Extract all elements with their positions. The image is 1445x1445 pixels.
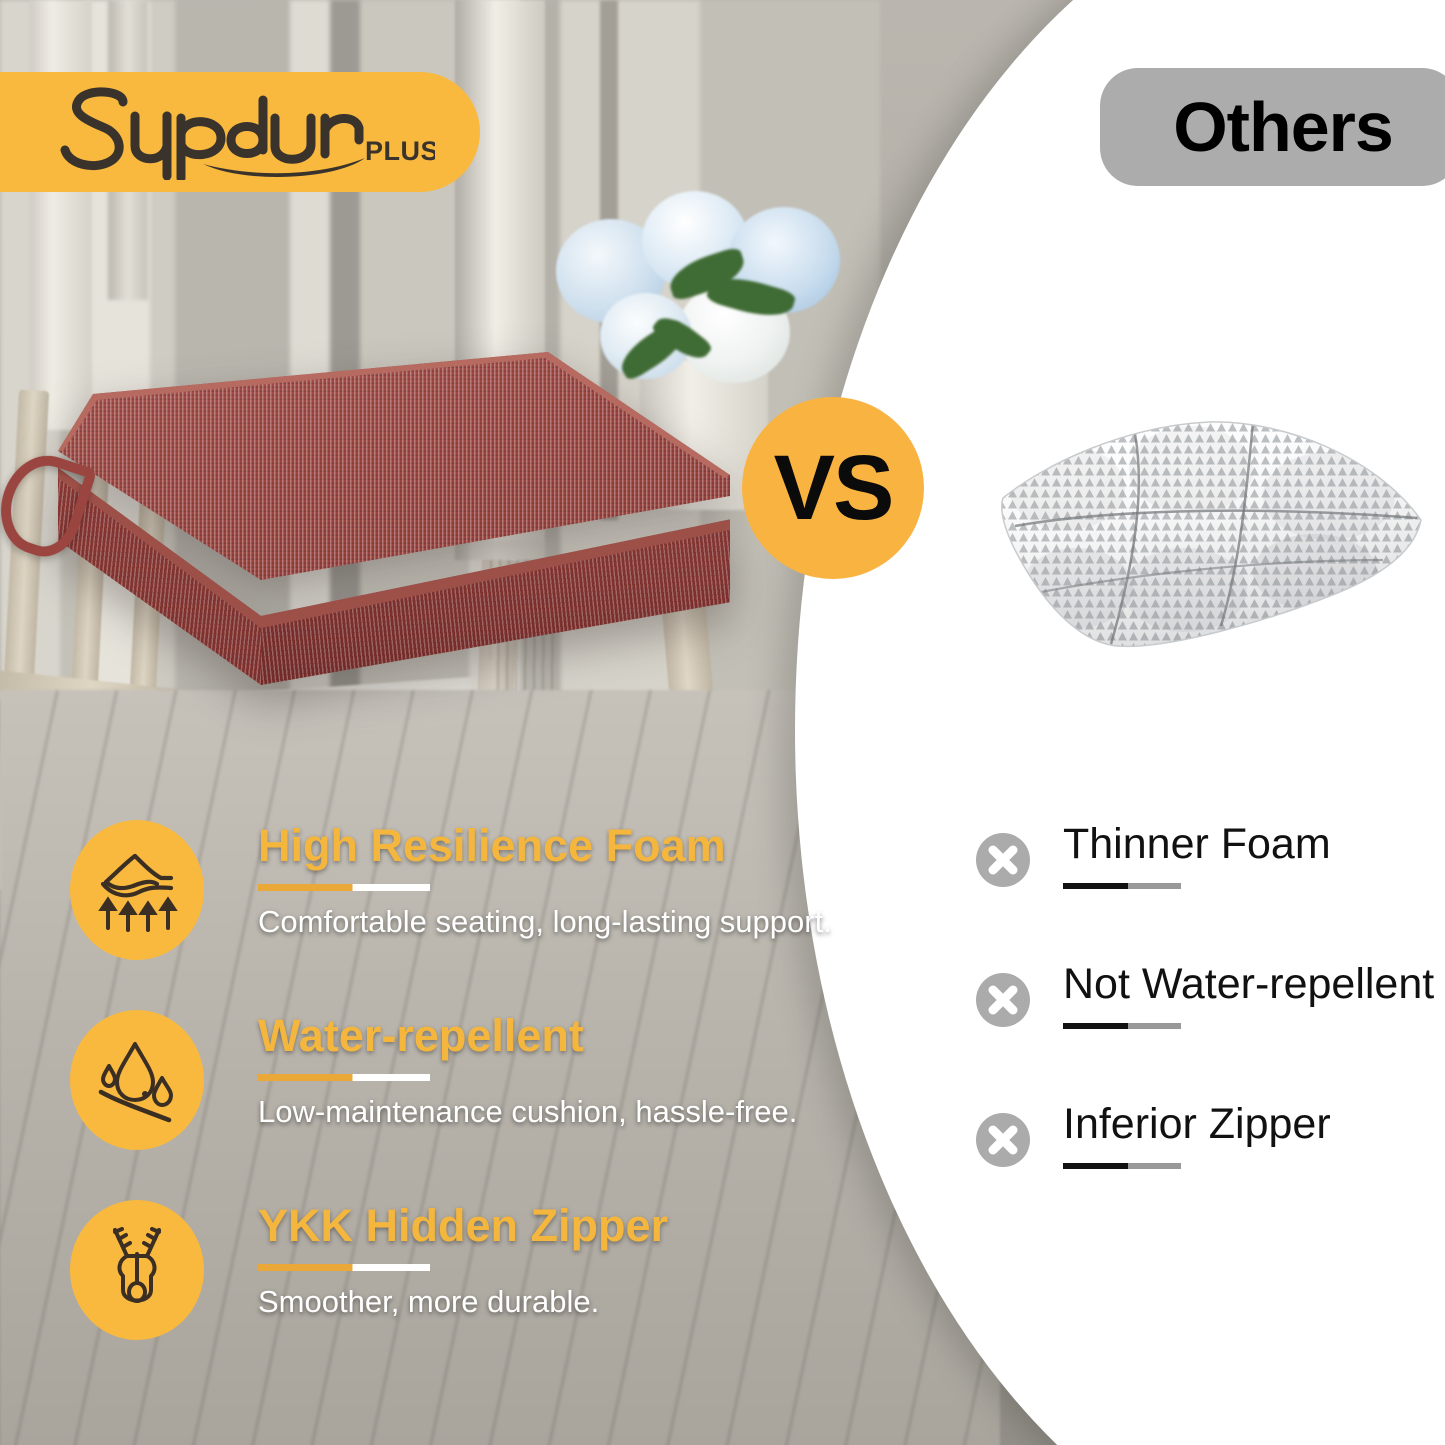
con-text: Inferior Zipper: [1063, 1102, 1443, 1169]
versus-label: VS: [774, 442, 893, 534]
feature-divider: [258, 1264, 430, 1271]
hand-support-arrows-icon: [70, 820, 204, 960]
brand-logo-pill: PLUS: [0, 72, 480, 192]
con-title: Thinner Foam: [1063, 822, 1443, 867]
competitor-cushion-graphic: [985, 400, 1435, 665]
product-cushion-image: [30, 340, 730, 685]
con-item: Thinner Foam: [975, 822, 1445, 962]
competitor-con-list: Thinner Foam Not Water-repellent: [975, 822, 1445, 1242]
versus-badge: VS: [742, 397, 924, 579]
zipper-icon: [70, 1200, 204, 1340]
brand-logo-icon: PLUS: [35, 84, 435, 180]
feature-description: Smoother, more durable.: [258, 1284, 768, 1320]
feature-item: YKK Hidden Zipper Smoother, more durable…: [70, 1192, 770, 1382]
con-divider: [1063, 1023, 1181, 1029]
competitor-label-text: Others: [1173, 92, 1393, 162]
feature-description: Comfortable seating, long-lasting suppor…: [258, 904, 768, 940]
con-text: Thinner Foam: [1063, 822, 1443, 889]
feature-item: High Resilience Foam Comfortable seating…: [70, 812, 770, 1002]
product-feature-list: High Resilience Foam Comfortable seating…: [70, 812, 770, 1382]
feature-title: YKK Hidden Zipper: [258, 1202, 768, 1249]
feature-item: Water-repellent Low-maintenance cushion,…: [70, 1002, 770, 1192]
x-circle-icon: [975, 832, 1031, 888]
feature-text: Water-repellent Low-maintenance cushion,…: [258, 1012, 768, 1130]
feature-description: Low-maintenance cushion, hassle-free.: [258, 1094, 768, 1130]
feature-divider: [258, 884, 430, 891]
x-circle-icon: [975, 1112, 1031, 1168]
water-droplet-repel-icon: [70, 1010, 204, 1150]
feature-text: High Resilience Foam Comfortable seating…: [258, 822, 768, 940]
con-title: Not Water-repellent: [1063, 962, 1443, 1007]
brand-suffix-text: PLUS: [365, 136, 435, 166]
con-text: Not Water-repellent: [1063, 962, 1443, 1029]
con-title: Inferior Zipper: [1063, 1102, 1443, 1147]
x-circle-icon: [975, 972, 1031, 1028]
feature-title: High Resilience Foam: [258, 822, 768, 869]
con-item: Inferior Zipper: [975, 1102, 1445, 1242]
feature-text: YKK Hidden Zipper Smoother, more durable…: [258, 1202, 768, 1320]
con-divider: [1063, 1163, 1181, 1169]
con-item: Not Water-repellent: [975, 962, 1445, 1102]
competitor-cushion-image: [985, 400, 1435, 665]
feature-divider: [258, 1074, 430, 1081]
comparison-infographic: PLUS Others VS: [0, 0, 1445, 1445]
con-divider: [1063, 883, 1181, 889]
feature-title: Water-repellent: [258, 1012, 768, 1059]
competitor-label-pill: Others: [1100, 68, 1445, 186]
